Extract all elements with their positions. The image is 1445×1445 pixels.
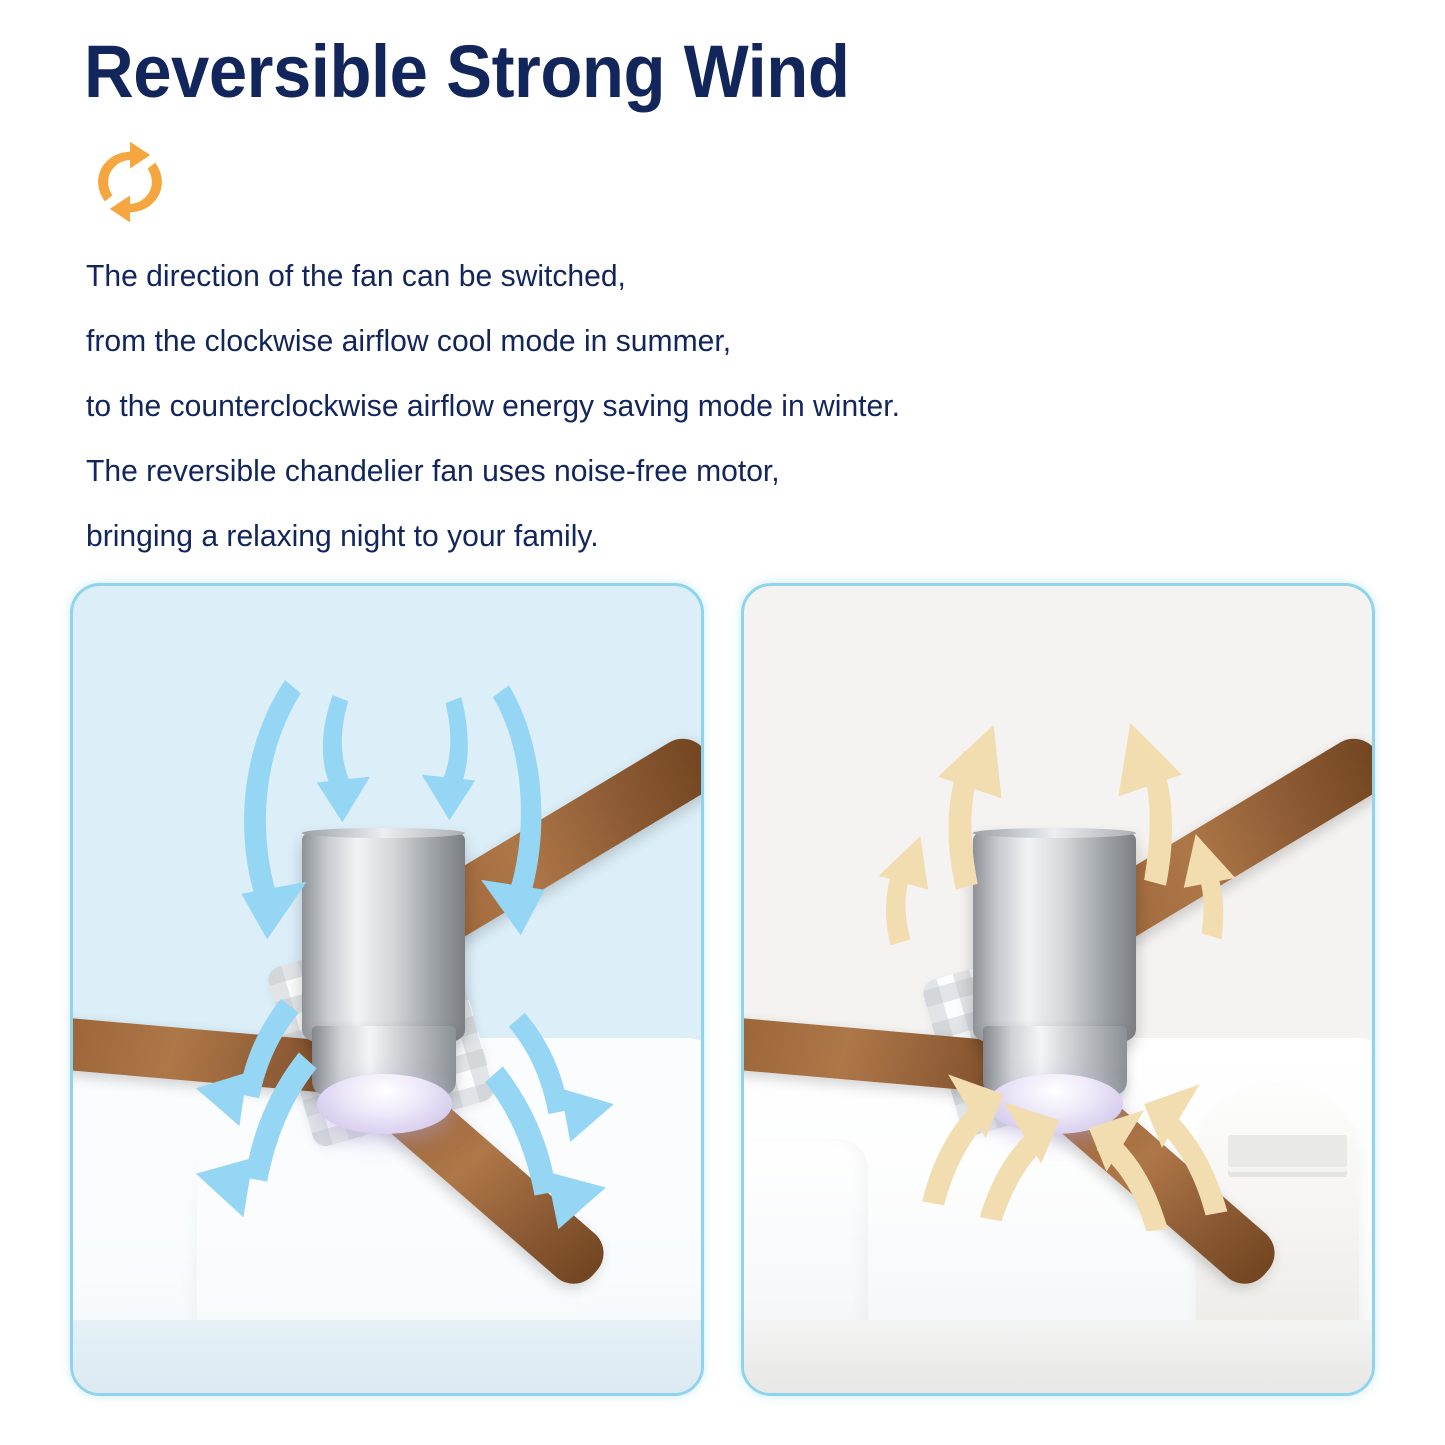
description-line: to the counterclockwise airflow energy s… bbox=[86, 373, 1134, 438]
rotate-arrows-icon bbox=[88, 140, 172, 224]
summer-image-panel: Summer Forward wind brings you cool bbox=[70, 583, 704, 1396]
description-block: The direction of the fan can be switched… bbox=[86, 243, 1166, 568]
winter-airflow-arrows bbox=[744, 586, 1372, 1393]
description-line: from the clockwise airflow cool mode in … bbox=[86, 308, 1134, 373]
description-line: bringing a relaxing night to your family… bbox=[86, 503, 1134, 568]
description-line: The direction of the fan can be switched… bbox=[86, 243, 1134, 308]
description-line: The reversible chandelier fan uses noise… bbox=[86, 438, 1134, 503]
winter-room-scene bbox=[744, 586, 1372, 1393]
winter-image-panel: Winter Increase air circulation promote … bbox=[741, 583, 1375, 1396]
summer-airflow-arrows bbox=[73, 586, 701, 1393]
summer-room-scene bbox=[73, 586, 701, 1393]
page-title: Reversible Strong Wind bbox=[84, 28, 849, 116]
